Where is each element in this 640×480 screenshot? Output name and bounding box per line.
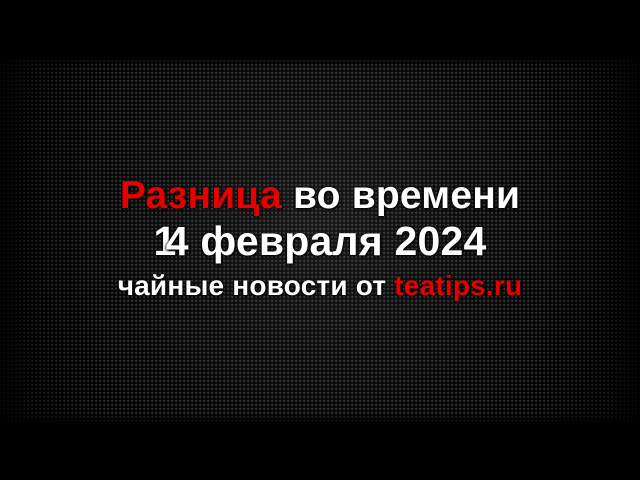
headline-accent-word: Разница <box>120 174 282 217</box>
headline-line-1-rest: во времени <box>293 174 520 217</box>
banner-canvas: Разница во времени 14 февраля 2024 чайны… <box>0 0 640 480</box>
headline-block: Разница во времени 14 февраля 2024 чайны… <box>0 176 640 300</box>
date-day-first-digit: 1 <box>153 221 165 262</box>
date-month: февраля <box>200 218 383 264</box>
letterbox-top-bar <box>0 0 640 57</box>
subtitle-prefix: чайные новости от <box>118 270 387 301</box>
headline-line-2-date: 14 февраля 2024 <box>0 221 640 262</box>
date-space-2 <box>383 218 395 264</box>
headline-line-1-space <box>282 174 293 217</box>
site-name-label: teatips.ru <box>394 270 522 301</box>
headline-line-3-subtitle: чайные новости от teatips.ru <box>0 272 640 300</box>
date-space-1 <box>189 218 201 264</box>
letterbox-bottom-bar <box>0 423 640 480</box>
date-day-rest: 4 <box>166 218 189 264</box>
date-year: 2024 <box>395 218 487 264</box>
headline-line-1: Разница во времени <box>0 176 640 215</box>
